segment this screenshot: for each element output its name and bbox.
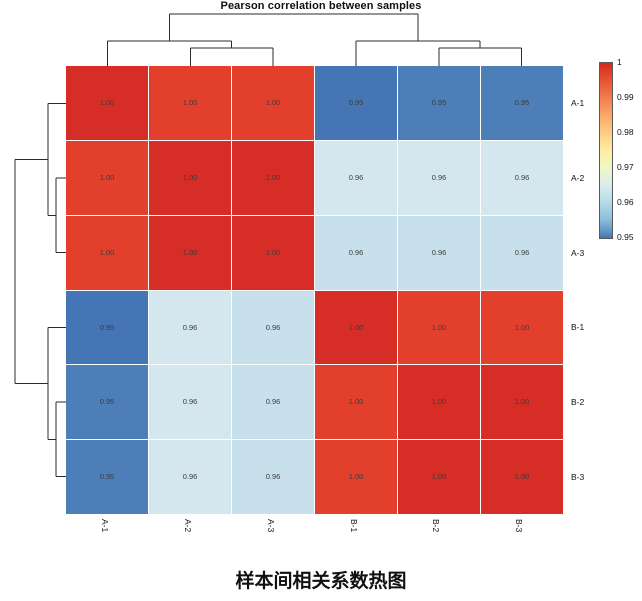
heatmap-cell-value: 0.96 [515,174,530,182]
heatmap-cell-value: 0.96 [266,324,281,332]
heatmap-cell-value: 0.96 [183,398,198,406]
heatmap-cell: 1.00 [398,365,480,439]
colorbar-tick-0: 1 [617,58,622,67]
heatmap-cell-value: 1.00 [349,473,364,481]
heatmap-cell: 1.00 [149,66,231,140]
heatmap-cell: 0.96 [232,291,314,365]
row-label-5: B-3 [571,471,611,483]
heatmap-cell: 1.00 [66,66,148,140]
heatmap-cell-value: 1.00 [432,473,447,481]
heatmap-cell: 0.96 [315,216,397,290]
heatmap-cell-value: 0.96 [266,473,281,481]
colorbar-tick-5: 0.95 [617,233,634,242]
heatmap-cell: 1.00 [232,141,314,215]
heatmap-cell: 1.00 [149,141,231,215]
colorbar-tick-2: 0.98 [617,128,634,137]
heatmap-cell-value: 1.00 [183,99,198,107]
heatmap-cell: 1.00 [66,141,148,215]
heatmap-cell-value: 0.95 [100,473,115,481]
heatmap-cell-value: 1.00 [183,249,198,257]
heatmap-cell: 1.00 [398,440,480,514]
row-dendrogram [10,66,66,516]
heatmap-cell: 1.00 [66,216,148,290]
heatmap-cell-value: 1.00 [432,398,447,406]
heatmap-cell-value: 0.95 [349,99,364,107]
heatmap-cell-value: 1.00 [515,324,530,332]
figure-caption: 样本间相关系数热图 [0,566,642,593]
column-dendrogram [66,14,566,66]
colorbar-tick-1: 0.99 [617,93,634,102]
heatmap-cell-value: 0.95 [100,398,115,406]
heatmap-cell-value: 0.95 [100,324,115,332]
heatmap-cell-value: 1.00 [432,324,447,332]
heatmap-cell: 1.00 [315,291,397,365]
heatmap-cell: 0.96 [481,216,563,290]
row-label-4: B-2 [571,396,611,408]
heatmap-cell: 0.95 [66,440,148,514]
heatmap-cell-value: 1.00 [349,324,364,332]
heatmap-cell: 1.00 [149,216,231,290]
heatmap-figure: Pearson correlation between samples [0,0,642,601]
heatmap-cell: 0.96 [149,440,231,514]
heatmap-cell-value: 1.00 [266,249,281,257]
heatmap-cell: 1.00 [315,440,397,514]
heatmap-cell-value: 1.00 [100,249,115,257]
heatmap-cell: 0.96 [398,141,480,215]
chart-title: Pearson correlation between samples [0,0,642,12]
colorbar-tick-3: 0.97 [617,163,634,172]
heatmap-cell: 1.00 [481,365,563,439]
heatmap-cell-value: 1.00 [349,398,364,406]
heatmap-cell-value: 1.00 [183,174,198,182]
row-label-3: B-1 [571,321,611,333]
heatmap-cell: 0.95 [66,365,148,439]
colorbar-gradient [599,62,613,239]
heatmap-cell-value: 1.00 [100,99,115,107]
heatmap-cell: 0.96 [398,216,480,290]
heatmap-cell-value: 0.96 [349,174,364,182]
heatmap-cell: 1.00 [481,440,563,514]
colorbar-tick-4: 0.96 [617,198,634,207]
heatmap-cell: 0.96 [232,440,314,514]
heatmap-cell: 1.00 [315,365,397,439]
heatmap-cell: 0.96 [315,141,397,215]
heatmap-cell-value: 0.96 [432,174,447,182]
heatmap-cell: 0.95 [398,66,480,140]
heatmap-cell-value: 0.96 [183,473,198,481]
heatmap-cell-value: 1.00 [515,473,530,481]
heatmap-cell: 1.00 [232,66,314,140]
heatmap-cell-value: 0.96 [432,249,447,257]
heatmap-cell: 1.00 [398,291,480,365]
heatmap-cell: 0.96 [232,365,314,439]
heatmap-cell-value: 0.96 [183,324,198,332]
heatmap-cell: 0.95 [66,291,148,365]
heatmap-cell-value: 0.96 [266,398,281,406]
heatmap-cell-value: 0.96 [349,249,364,257]
heatmap-cell-value: 0.95 [432,99,447,107]
heatmap-cell-value: 0.95 [515,99,530,107]
heatmap-cell: 1.00 [481,291,563,365]
heatmap-cell-value: 0.96 [515,249,530,257]
heatmap-cell: 0.95 [315,66,397,140]
heatmap-cell: 0.96 [149,291,231,365]
heatmap-cell: 0.96 [481,141,563,215]
heatmap-cell-value: 1.00 [266,99,281,107]
heatmap-cell-value: 1.00 [515,398,530,406]
row-label-2: A-3 [571,247,611,259]
heatmap-cell-value: 1.00 [266,174,281,182]
heatmap-cell: 0.96 [149,365,231,439]
heatmap-cell: 0.95 [481,66,563,140]
heatmap-cell-value: 1.00 [100,174,115,182]
heatmap-cell: 1.00 [232,216,314,290]
heatmap-grid: 1.001.001.000.950.950.951.001.001.000.96… [66,66,563,514]
